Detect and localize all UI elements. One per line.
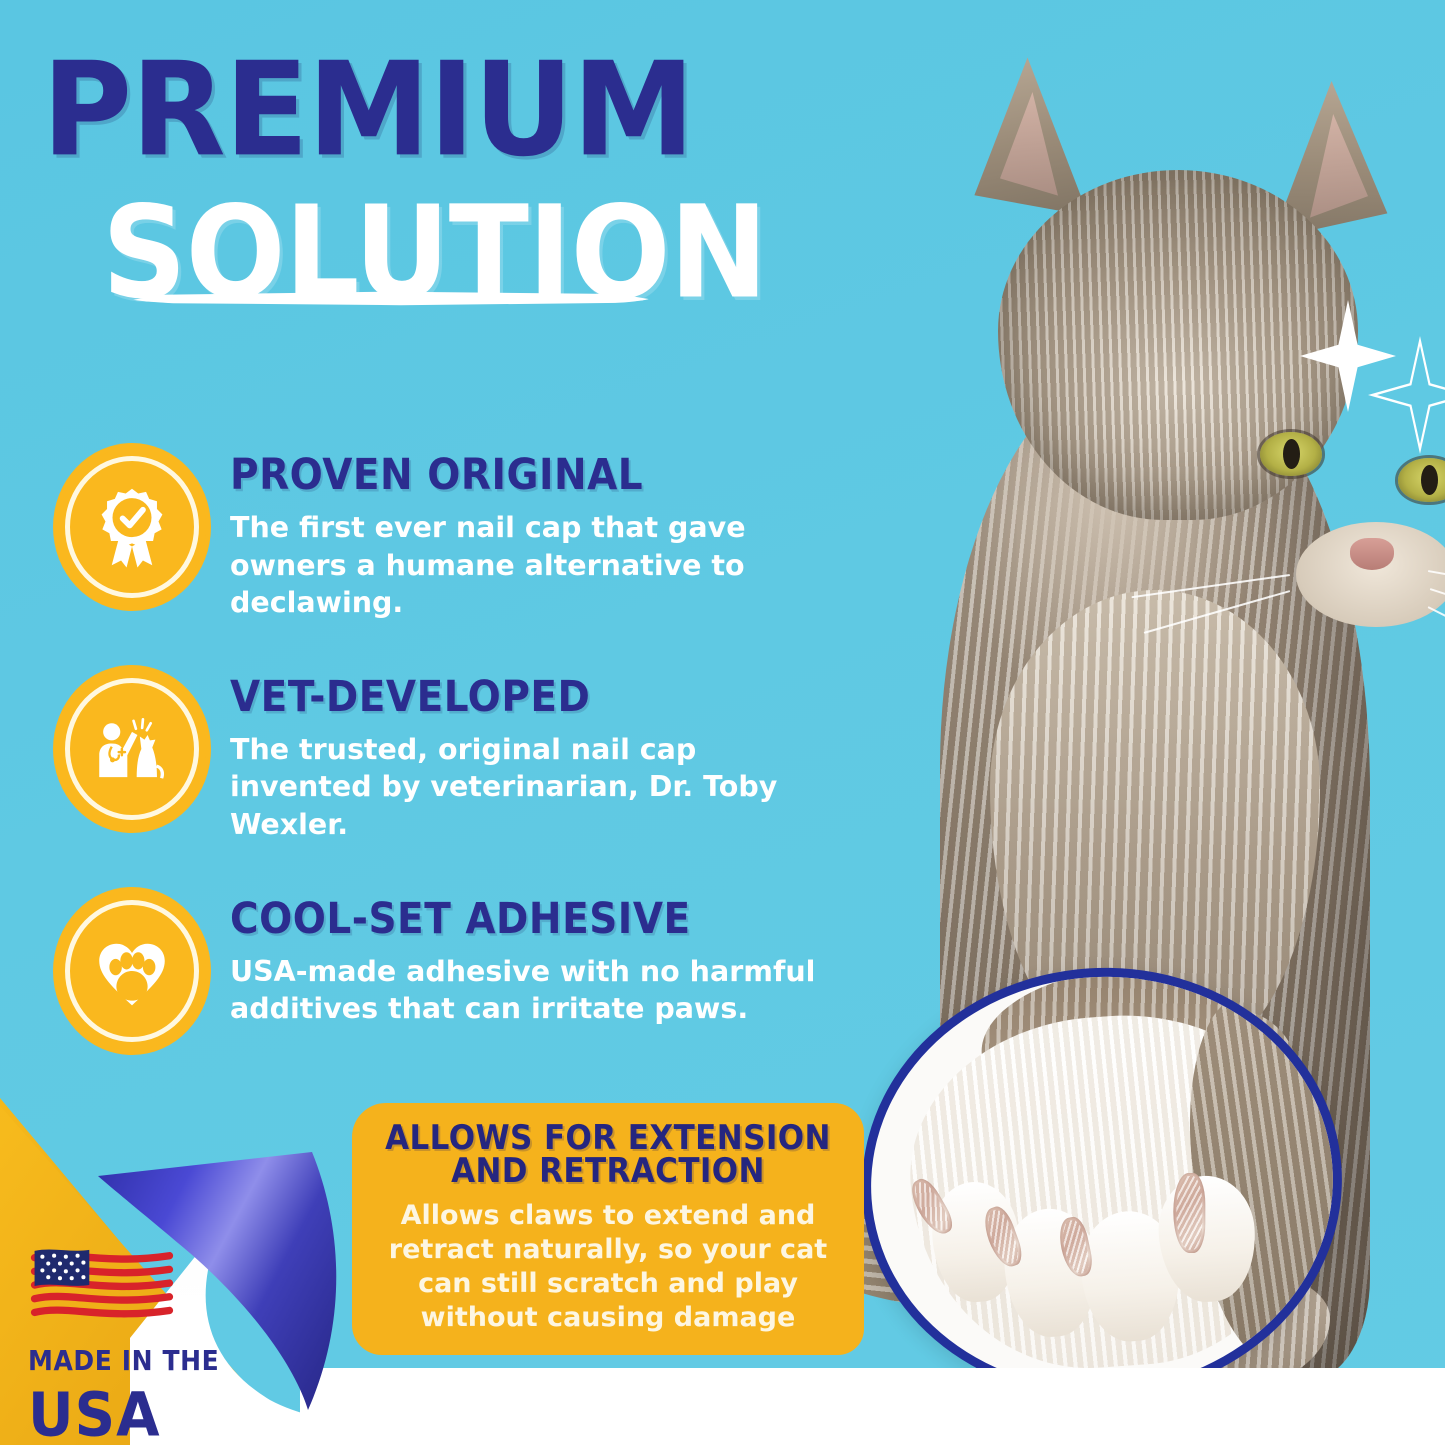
heart-paw-icon	[58, 892, 206, 1050]
headline-line-1: PREMIUM	[42, 48, 869, 173]
feature-title: VET-DEVELOPED	[230, 676, 818, 719]
feature-description: USA-made adhesive with no harmful additi…	[230, 953, 818, 1028]
headline: PREMIUM SOLUTION	[42, 48, 822, 301]
poster-canvas: PREMIUM SOLUTION	[0, 0, 1445, 1445]
feature-list: PROVEN ORIGINAL The first ever nail cap …	[58, 448, 818, 1098]
feature-item-proven-original: PROVEN ORIGINAL The first ever nail cap …	[58, 448, 818, 622]
usa-flag-icon	[28, 1244, 176, 1330]
cat-eye-left	[1260, 432, 1322, 476]
callout-body: Allows claws to extend and retract natur…	[374, 1199, 842, 1335]
feature-item-vet-developed: VET-DEVELOPED The trusted, original nail…	[58, 670, 818, 844]
award-ribbon-check-icon	[58, 448, 206, 606]
feature-title: COOL-SET ADHESIVE	[230, 898, 818, 941]
bottom-white-band	[300, 1368, 1445, 1445]
cat-nose	[1350, 538, 1394, 570]
feature-description: The first ever nail cap that gave owners…	[230, 509, 818, 622]
feature-description: The trusted, original nail cap invented …	[230, 731, 818, 844]
extension-retraction-callout: ALLOWS FOR EXTENSION AND RETRACTION Allo…	[352, 1103, 864, 1355]
feature-item-cool-set-adhesive: COOL-SET ADHESIVE USA-made adhesive with…	[58, 892, 818, 1050]
made-in-usa-line-1: MADE IN THE	[28, 1344, 238, 1376]
made-in-usa-badge: MADE IN THE USA	[28, 1244, 238, 1439]
callout-title-line-2: AND RETRACTION	[374, 1154, 842, 1189]
cat-eye-right	[1398, 458, 1445, 502]
made-in-usa-line-2: USA	[28, 1385, 246, 1445]
veterinarian-highfive-cat-icon	[58, 670, 206, 828]
sparkle-outline-icon	[1368, 336, 1445, 454]
feature-title: PROVEN ORIGINAL	[230, 454, 818, 497]
